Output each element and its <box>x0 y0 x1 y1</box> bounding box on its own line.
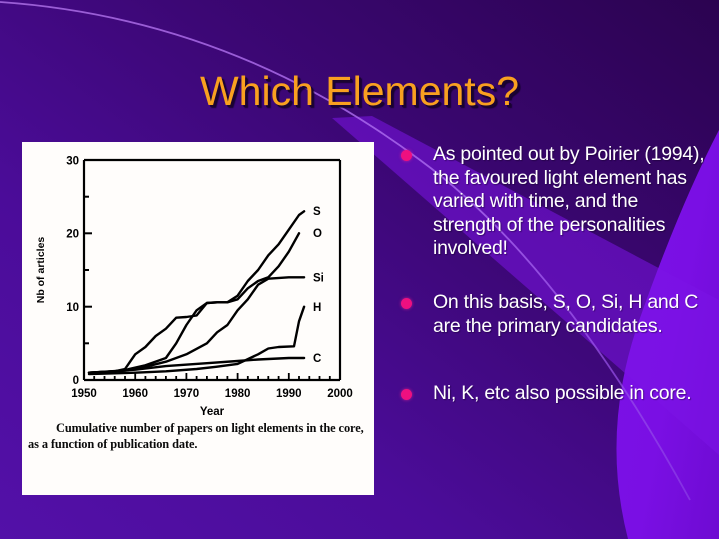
y-axis-ticks <box>84 160 92 380</box>
bullet-dot-icon <box>401 298 412 309</box>
series-line-O <box>89 233 299 372</box>
series-label-C: C <box>313 353 321 365</box>
presentation-slide: Which Elements? <box>0 0 719 539</box>
list-item[interactable]: Ni, K, etc also possible in core. <box>398 382 708 406</box>
x-axis-title: Year <box>200 406 225 418</box>
bullet-dot-icon <box>401 389 412 400</box>
y-axis-title: Nb of articles <box>35 237 47 304</box>
series-line-C <box>89 358 304 373</box>
bullet-list: As pointed out by Poirier (1994), the fa… <box>398 143 708 436</box>
x-tick-2000: 2000 <box>327 388 353 400</box>
figure-panel: 0 10 20 30 1950 1960 1970 1980 1990 2000… <box>22 142 374 495</box>
list-item[interactable]: On this basis, S, O, Si, H and C are the… <box>398 291 708 338</box>
y-tick-30: 30 <box>66 156 79 168</box>
series-label-S: S <box>313 206 321 218</box>
list-item[interactable]: As pointed out by Poirier (1994), the fa… <box>398 143 708 261</box>
bullet-text: Ni, K, etc also possible in core. <box>433 382 708 406</box>
y-tick-labels: 0 10 20 30 <box>66 156 79 388</box>
x-tick-1950: 1950 <box>71 388 97 400</box>
x-tick-1970: 1970 <box>174 388 200 400</box>
y-tick-10: 10 <box>66 302 79 314</box>
cumulative-papers-line-chart: 0 10 20 30 1950 1960 1970 1980 1990 2000… <box>22 142 374 422</box>
y-tick-20: 20 <box>66 229 79 241</box>
x-tick-1960: 1960 <box>122 388 148 400</box>
page-title: Which Elements? <box>0 68 719 115</box>
x-tick-1990: 1990 <box>276 388 302 400</box>
bullet-text: As pointed out by Poirier (1994), the fa… <box>433 143 708 261</box>
series-label-O: O <box>313 228 322 240</box>
series-label-Si: Si <box>313 273 324 285</box>
x-tick-1980: 1980 <box>225 388 251 400</box>
x-tick-labels: 1950 1960 1970 1980 1990 2000 <box>71 388 353 400</box>
bullet-dot-icon <box>401 150 412 161</box>
figure-caption: Cumulative number of papers on light ele… <box>28 420 368 453</box>
series-labels: S O Si H C <box>313 206 324 365</box>
bullet-text: On this basis, S, O, Si, H and C are the… <box>433 291 708 338</box>
chart-axes <box>84 160 340 380</box>
series-label-H: H <box>313 302 321 314</box>
y-tick-0: 0 <box>73 375 79 387</box>
